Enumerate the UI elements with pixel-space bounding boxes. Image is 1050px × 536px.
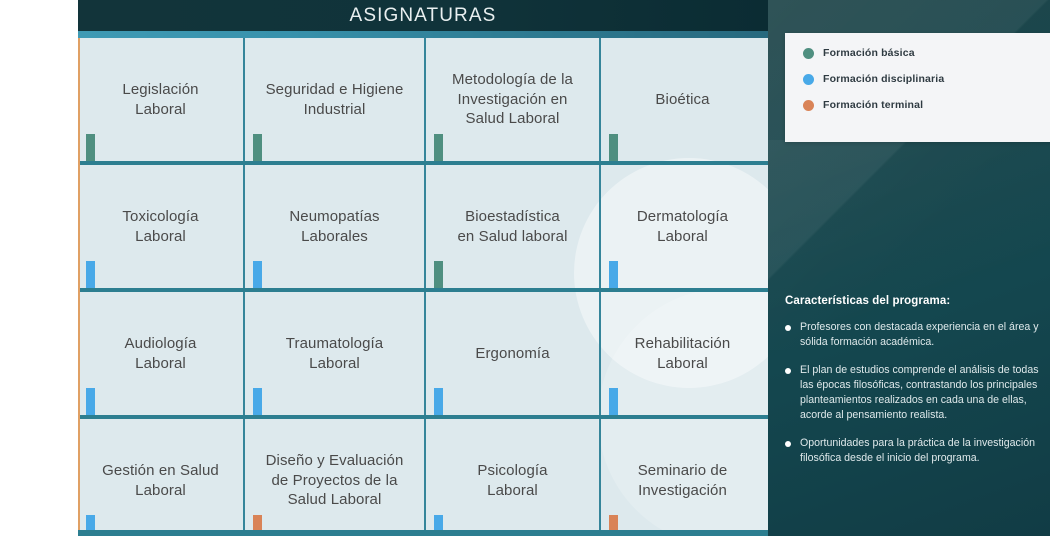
legend-item-basica: Formación básica <box>803 47 1050 59</box>
subject-cell[interactable]: Neumopatías Laborales <box>243 165 424 288</box>
subject-label: Seminario de Investigación <box>629 461 737 501</box>
table-bottom-rule <box>78 530 768 536</box>
category-bar-disciplinaria <box>86 388 95 415</box>
category-bar-basica <box>609 134 618 161</box>
subject-label: Metodología de la Investigación en Salud… <box>443 70 582 130</box>
subject-cell[interactable]: Audiología Laboral <box>78 292 243 415</box>
subject-label: Neumopatías Laborales <box>280 207 388 247</box>
feature-item: Profesores con destacada experiencia en … <box>785 320 1043 350</box>
info-panel: Formación básicaFormación disciplinariaF… <box>768 0 1050 536</box>
legend-item-label: Formación disciplinaria <box>823 73 944 85</box>
legend-list: Formación básicaFormación disciplinariaF… <box>785 33 1050 111</box>
category-bar-disciplinaria <box>609 388 618 415</box>
subject-cell[interactable]: Dermatología Laboral <box>599 165 764 288</box>
subject-label: Bioestadística en Salud laboral <box>448 207 576 247</box>
legend-color-dot-terminal <box>803 100 814 111</box>
header-underline-rule <box>78 31 768 38</box>
subject-cell[interactable]: Seminario de Investigación <box>599 419 764 536</box>
category-bar-disciplinaria <box>253 388 262 415</box>
subject-label: Ergonomía <box>466 344 558 364</box>
subject-label: Diseño y Evaluación de Proyectos de la S… <box>257 451 413 511</box>
subject-label: Rehabilitación Laboral <box>626 334 740 374</box>
table-row: Audiología LaboralTraumatología LaboralE… <box>78 288 768 415</box>
category-bar-disciplinaria <box>609 261 618 288</box>
category-bar-disciplinaria <box>253 261 262 288</box>
subject-label: Seguridad e Higiene Industrial <box>257 80 413 120</box>
category-bar-basica <box>434 261 443 288</box>
subject-cell[interactable]: Seguridad e Higiene Industrial <box>243 38 424 161</box>
subject-cell[interactable]: Toxicología Laboral <box>78 165 243 288</box>
subject-cell[interactable]: Rehabilitación Laboral <box>599 292 764 415</box>
category-bar-disciplinaria <box>86 261 95 288</box>
subject-cell[interactable]: Psicología Laboral <box>424 419 599 536</box>
category-bar-basica <box>434 134 443 161</box>
features-title: Características del programa: <box>785 295 1043 307</box>
subject-cell[interactable]: Ergonomía <box>424 292 599 415</box>
category-bar-basica <box>253 134 262 161</box>
table-row: Toxicología LaboralNeumopatías Laborales… <box>78 161 768 288</box>
category-bar-disciplinaria <box>434 388 443 415</box>
subject-cell[interactable]: Gestión en Salud Laboral <box>78 419 243 536</box>
legend-item-label: Formación terminal <box>823 99 923 111</box>
features-block: Características del programa: Profesores… <box>785 295 1043 479</box>
subject-label: Traumatología Laboral <box>277 334 392 374</box>
subject-label: Audiología Laboral <box>116 334 206 374</box>
feature-item: El plan de estudios comprende el análisi… <box>785 363 1043 423</box>
feature-item: Oportunidades para la práctica de la inv… <box>785 436 1043 466</box>
feature-text: Oportunidades para la práctica de la inv… <box>800 436 1043 466</box>
subject-cell[interactable]: Traumatología Laboral <box>243 292 424 415</box>
subject-label: Psicología Laboral <box>468 461 556 501</box>
bullet-icon <box>785 325 791 331</box>
subject-cell[interactable]: Bioética <box>599 38 764 161</box>
left-gutter <box>0 0 78 536</box>
table-row: Gestión en Salud LaboralDiseño y Evaluac… <box>78 415 768 536</box>
subject-cell[interactable]: Diseño y Evaluación de Proyectos de la S… <box>243 419 424 536</box>
subject-label: Gestión en Salud Laboral <box>93 461 228 501</box>
subjects-grid: Legislación LaboralSeguridad e Higiene I… <box>78 38 768 536</box>
table-row: Legislación LaboralSeguridad e Higiene I… <box>78 38 768 161</box>
subjects-table: Legislación LaboralSeguridad e Higiene I… <box>78 38 768 536</box>
left-accent-strip <box>78 38 80 536</box>
feature-text: Profesores con destacada experiencia en … <box>800 320 1043 350</box>
subject-label: Toxicología Laboral <box>113 207 207 247</box>
feature-text: El plan de estudios comprende el análisi… <box>800 363 1043 423</box>
bullet-icon <box>785 368 791 374</box>
legend-item-terminal: Formación terminal <box>803 99 1050 111</box>
subject-label: Dermatología Laboral <box>628 207 737 247</box>
page-title: ASIGNATURAS <box>78 0 768 31</box>
legend-item-disciplinaria: Formación disciplinaria <box>803 73 1050 85</box>
subject-label: Bioética <box>646 90 718 110</box>
category-bar-basica <box>86 134 95 161</box>
subject-cell[interactable]: Legislación Laboral <box>78 38 243 161</box>
slide-stage: Legislación LaboralSeguridad e Higiene I… <box>0 0 1050 536</box>
bullet-icon <box>785 441 791 447</box>
subject-cell[interactable]: Bioestadística en Salud laboral <box>424 165 599 288</box>
legend-color-dot-disciplinaria <box>803 74 814 85</box>
legend-item-label: Formación básica <box>823 47 915 59</box>
subject-cell[interactable]: Metodología de la Investigación en Salud… <box>424 38 599 161</box>
legend-color-dot-basica <box>803 48 814 59</box>
subject-label: Legislación Laboral <box>113 80 207 120</box>
features-list: Profesores con destacada experiencia en … <box>785 320 1043 466</box>
legend-card: Formación básicaFormación disciplinariaF… <box>785 33 1050 142</box>
